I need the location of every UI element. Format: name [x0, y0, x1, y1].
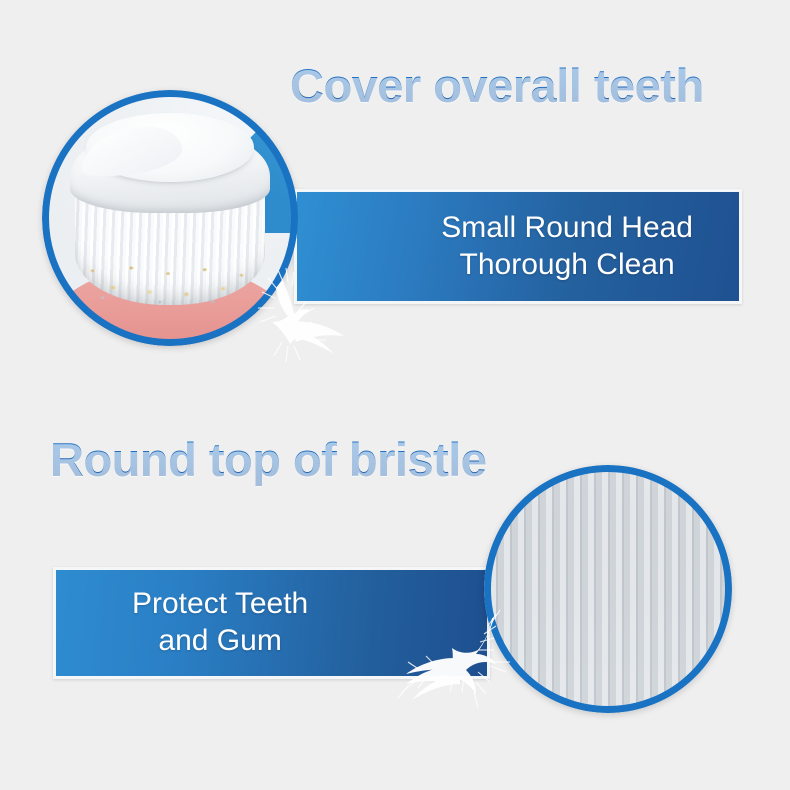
- page-title-cover-overall-teeth: Cover overall teeth: [290, 58, 704, 113]
- banner-line-2: Thorough Clean: [441, 247, 693, 284]
- banner-text-block: Protect Teeth and Gum: [132, 586, 308, 659]
- white-feather-decoration: [398, 612, 528, 712]
- plaque-particles: [68, 254, 273, 310]
- banner-text-block: Small Round Head Thorough Clean: [441, 210, 693, 283]
- product-feature-poster: Cover overall teeth Small Round Head Tho…: [0, 0, 790, 790]
- page-title-round-top-of-bristle: Round top of bristle: [50, 432, 486, 487]
- banner-line-1: Small Round Head: [441, 210, 693, 247]
- banner-line-1: Protect Teeth: [132, 586, 308, 623]
- white-feather-decoration: [248, 270, 368, 370]
- banner-line-2: and Gum: [132, 623, 308, 660]
